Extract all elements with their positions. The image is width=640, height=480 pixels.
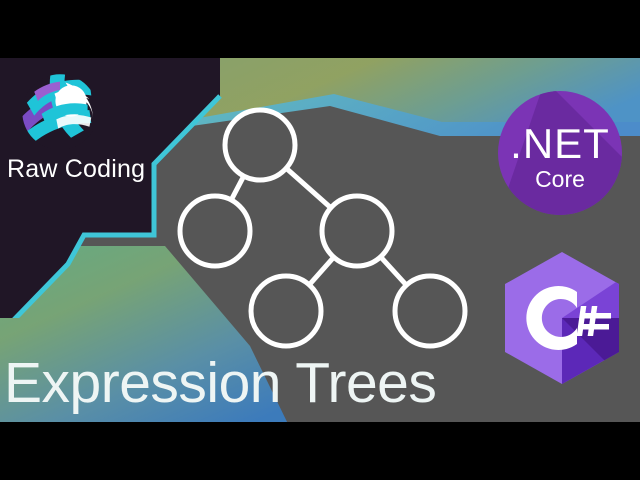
raw-coding-swirl-icon: [14, 66, 106, 158]
tree-node-right-right: [395, 276, 465, 346]
thumbnail-canvas: Raw Coding: [0, 58, 640, 422]
tree-node-root: [225, 110, 295, 180]
video-thumbnail: Raw Coding: [0, 0, 640, 480]
letterbox-top: [0, 0, 640, 58]
letterbox-bottom: [0, 422, 640, 480]
brand-name: Raw Coding: [7, 155, 145, 184]
tree-node-right-left: [251, 276, 321, 346]
tree-node-right: [322, 196, 392, 266]
csharp-logo: [497, 248, 627, 388]
dotnet-core-logo: [497, 90, 623, 216]
page-title: Expression Trees: [4, 355, 436, 412]
tree-node-left: [180, 196, 250, 266]
binary-expression-tree: [160, 103, 490, 353]
